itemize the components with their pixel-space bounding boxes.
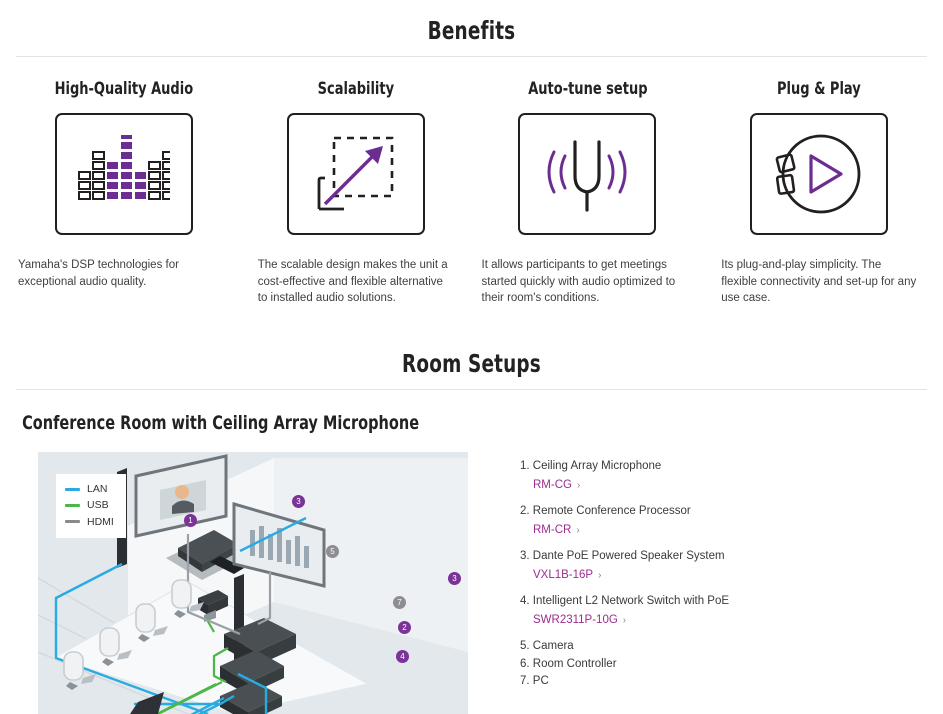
room-setups-heading: Room Setups xyxy=(85,333,858,378)
benefit-description: It allows participants to get meetings s… xyxy=(482,257,686,307)
benefit-card-plug-and-play: Plug & Play Its plug-and-play simplicity… xyxy=(703,79,935,307)
benefit-icon-frame xyxy=(750,113,888,235)
part-label: Room Controller xyxy=(533,658,617,670)
legend-item-lan: LAN xyxy=(65,481,114,497)
part-label: Dante PoE Powered Speaker System xyxy=(533,550,725,562)
part-link-label: RM-CR xyxy=(533,524,571,536)
part-number: 3. xyxy=(520,550,530,562)
benefit-description: Its plug-and-play simplicity. The flexib… xyxy=(721,257,917,307)
part-number: 4. xyxy=(520,595,530,607)
resize-arrow-icon xyxy=(313,132,399,216)
benefit-title: Scalability xyxy=(272,79,438,99)
part-item-5: 5. Camera xyxy=(520,639,729,655)
chevron-right-icon: › xyxy=(577,480,580,491)
benefit-title: High-Quality Audio xyxy=(41,79,207,99)
benefit-icon-frame xyxy=(518,113,656,235)
part-link-swr2311p-10g[interactable]: SWR2311P-10G› xyxy=(533,613,729,629)
room-setup-title: Conference Room with Ceiling Array Micro… xyxy=(0,390,802,434)
part-item-7: 7. PC xyxy=(520,674,729,690)
diagram-badge-3-left: 3 xyxy=(292,495,305,508)
part-number: 5. xyxy=(520,640,530,652)
benefit-card-auto-tune-setup: Auto-tune setup It allows participan xyxy=(472,79,704,307)
chevron-right-icon: › xyxy=(623,615,626,626)
part-item-6: 6. Room Controller xyxy=(520,657,729,673)
legend-label: HDMI xyxy=(87,514,114,530)
diagram-badge-4: 4 xyxy=(396,650,409,663)
part-link-vxl1b-16p[interactable]: VXL1B-16P› xyxy=(533,568,729,584)
part-link-label: RM-CG xyxy=(533,479,572,491)
legend-item-hdmi: HDMI xyxy=(65,514,114,530)
part-label: Ceiling Array Microphone xyxy=(533,460,661,472)
room-setup-parts-list: 1. Ceiling Array Microphone RM-CG› 2. Re… xyxy=(468,452,729,714)
part-item-3: 3. Dante PoE Powered Speaker System VXL1… xyxy=(520,549,729,583)
part-number: 1. xyxy=(520,460,530,472)
benefit-icon-frame xyxy=(287,113,425,235)
part-link-rm-cr[interactable]: RM-CR› xyxy=(533,523,729,539)
part-link-label: VXL1B-16P xyxy=(533,569,593,581)
legend-swatch-lan xyxy=(65,488,80,491)
part-item-4: 4. Intelligent L2 Network Switch with Po… xyxy=(520,594,729,628)
chevron-right-icon: › xyxy=(576,525,579,536)
legend-label: LAN xyxy=(87,481,107,497)
diagram-badge-2: 2 xyxy=(398,621,411,634)
benefit-card-scalability: Scalability The scalable design make xyxy=(240,79,472,307)
diagram-badge-3-right: 3 xyxy=(448,572,461,585)
benefit-icon-frame xyxy=(55,113,193,235)
page-root: Benefits High-Quality Audio xyxy=(0,0,943,677)
legend-label: USB xyxy=(87,497,109,513)
equalizer-icon xyxy=(78,135,170,213)
benefits-section: Benefits High-Quality Audio xyxy=(0,0,943,307)
part-item-1: 1. Ceiling Array Microphone RM-CG› xyxy=(520,459,729,493)
part-item-2: 2. Remote Conference Processor RM-CR› xyxy=(520,504,729,538)
diagram-badge-7: 7 xyxy=(393,596,406,609)
part-label: Intelligent L2 Network Switch with PoE xyxy=(533,595,729,607)
benefit-description: Yamaha's DSP technologies for exceptiona… xyxy=(18,257,222,290)
part-number: 2. xyxy=(520,505,530,517)
diagram-badge-5: 5 xyxy=(326,545,339,558)
benefit-title: Auto-tune setup xyxy=(504,79,670,99)
benefit-description: The scalable design makes the unit a cos… xyxy=(258,257,454,307)
legend-item-usb: USB xyxy=(65,497,114,513)
part-label: Camera xyxy=(533,640,574,652)
benefit-title: Plug & Play xyxy=(736,79,902,99)
chevron-right-icon: › xyxy=(598,570,601,581)
benefit-card-high-quality-audio: High-Quality Audio xyxy=(8,79,240,307)
room-setup-body: LAN USB HDMI 1 3 3 5 7 2 xyxy=(0,434,943,714)
part-link-label: SWR2311P-10G xyxy=(533,614,618,626)
room-diagram: LAN USB HDMI 1 3 3 5 7 2 xyxy=(38,452,468,714)
part-link-rm-cg[interactable]: RM-CG› xyxy=(533,478,729,494)
legend-swatch-hdmi xyxy=(65,520,80,523)
benefits-heading: Benefits xyxy=(85,0,858,45)
play-circle-plug-icon xyxy=(769,130,869,218)
part-number: 6. xyxy=(520,658,530,670)
tuning-fork-icon xyxy=(537,132,637,216)
benefits-list: High-Quality Audio xyxy=(0,57,943,307)
room-setups-section: Room Setups Conference Room with Ceiling… xyxy=(0,333,943,714)
diagram-legend: LAN USB HDMI xyxy=(56,474,126,538)
diagram-badge-1: 1 xyxy=(184,514,197,527)
legend-swatch-usb xyxy=(65,504,80,507)
part-label: Remote Conference Processor xyxy=(533,505,691,517)
